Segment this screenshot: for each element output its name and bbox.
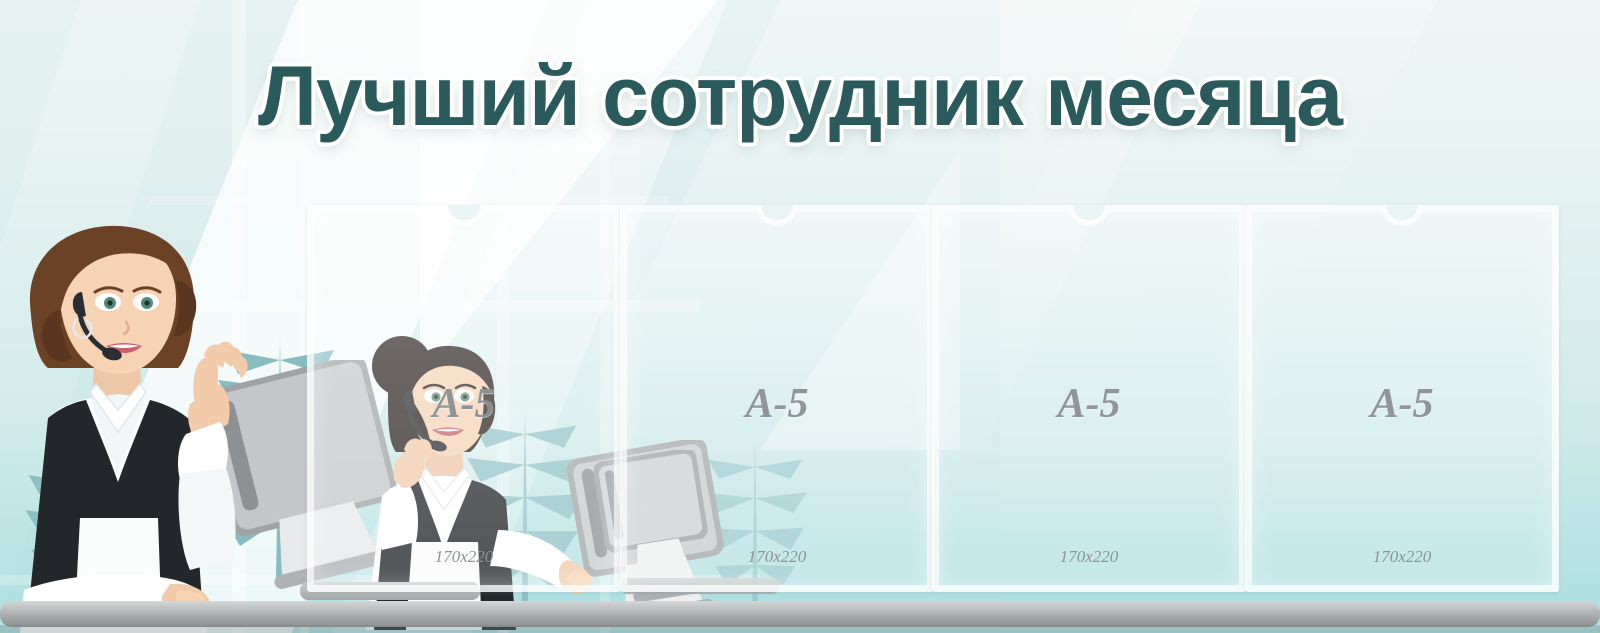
document-pocket-3[interactable]: А-5 170x220 bbox=[932, 205, 1246, 592]
pocket-format-label: А-5 bbox=[1252, 380, 1552, 428]
pocket-dimensions-label: 170x220 bbox=[627, 547, 927, 567]
pocket-format-label: А-5 bbox=[314, 380, 614, 428]
desk-counter bbox=[0, 601, 1600, 627]
page-title: Лучший сотрудник месяца bbox=[0, 48, 1600, 145]
document-pocket-1[interactable]: А-5 170x220 bbox=[307, 205, 621, 592]
desk-shadow bbox=[0, 625, 1600, 633]
pocket-dimensions-label: 170x220 bbox=[939, 547, 1239, 567]
window-transom bbox=[150, 196, 670, 205]
operator-foreground-illustration bbox=[0, 218, 280, 633]
pocket-dimensions-label: 170x220 bbox=[1252, 547, 1552, 567]
thumb-notch-icon bbox=[756, 205, 798, 226]
pocket-dimensions-label: 170x220 bbox=[314, 547, 614, 567]
document-pocket-4[interactable]: А-5 170x220 bbox=[1245, 205, 1559, 592]
pocket-format-label: А-5 bbox=[627, 380, 927, 428]
thumb-notch-icon bbox=[1381, 205, 1423, 226]
information-stand: Лучший сотрудник месяца А-5 170x220 А-5 … bbox=[0, 0, 1600, 633]
thumb-notch-icon bbox=[443, 205, 485, 226]
pocket-format-label: А-5 bbox=[939, 380, 1239, 428]
thumb-notch-icon bbox=[1068, 205, 1110, 226]
document-pocket-2[interactable]: А-5 170x220 bbox=[620, 205, 934, 592]
